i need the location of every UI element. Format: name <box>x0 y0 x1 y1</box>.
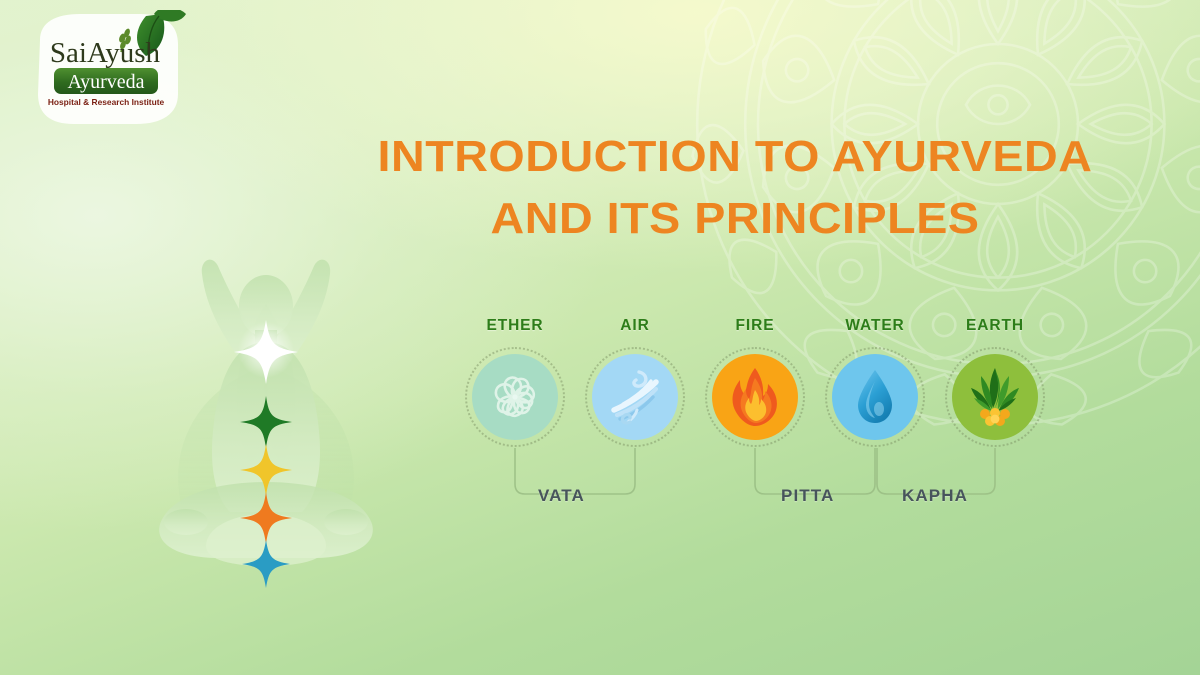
element-fire[interactable]: FIRE <box>696 318 814 440</box>
water-circle[interactable] <box>832 354 918 440</box>
logo-tagline: Hospital & Research Institute <box>48 97 165 107</box>
dosha-label-pitta: PITTA <box>781 486 834 506</box>
air-circle[interactable] <box>592 354 678 440</box>
ether-spiral-icon <box>484 366 546 428</box>
meditating-yoga-figure <box>150 246 382 596</box>
page-title: INTRODUCTION TO AYURVEDA AND ITS PRINCIP… <box>300 126 1170 251</box>
logo-wordmark: SaiAyush <box>50 37 161 69</box>
figure-hand-left <box>164 509 208 535</box>
element-water[interactable]: WATER <box>816 318 934 440</box>
water-droplet-icon <box>853 367 897 427</box>
fire-flame-icon <box>728 366 782 428</box>
element-label-earth: EARTH <box>936 318 1054 334</box>
figure-hand-right <box>324 509 368 535</box>
dosha-label-vata: VATA <box>538 486 585 506</box>
slide-canvas: SaiAyush Ayurveda Hospital & Research In… <box>0 0 1200 675</box>
fire-circle[interactable] <box>712 354 798 440</box>
brand-logo[interactable]: SaiAyush Ayurveda Hospital & Research In… <box>22 10 188 132</box>
earth-herb-leaves-berries-icon <box>965 366 1025 428</box>
element-label-ether: ETHER <box>456 318 574 334</box>
element-air[interactable]: AIR <box>576 318 694 440</box>
ether-circle[interactable] <box>472 354 558 440</box>
element-label-air: AIR <box>576 318 694 334</box>
element-earth[interactable]: EARTH <box>936 318 1054 440</box>
element-label-fire: FIRE <box>696 318 814 334</box>
earth-circle[interactable] <box>952 354 1038 440</box>
title-line-2: AND ITS PRINCIPLES <box>274 188 1196 250</box>
dosha-label-kapha: KAPHA <box>902 486 968 506</box>
element-label-water: WATER <box>816 318 934 334</box>
logo-banner-text: Ayurveda <box>67 71 144 93</box>
berries <box>980 408 1010 426</box>
leaves <box>971 368 1019 411</box>
title-line-1: INTRODUCTION TO AYURVEDA <box>274 126 1196 188</box>
dosha-grouping: VATA PITTA KAPHA <box>456 448 1060 528</box>
element-ether[interactable]: ETHER <box>456 318 574 440</box>
air-wind-swirl-icon <box>606 366 664 428</box>
